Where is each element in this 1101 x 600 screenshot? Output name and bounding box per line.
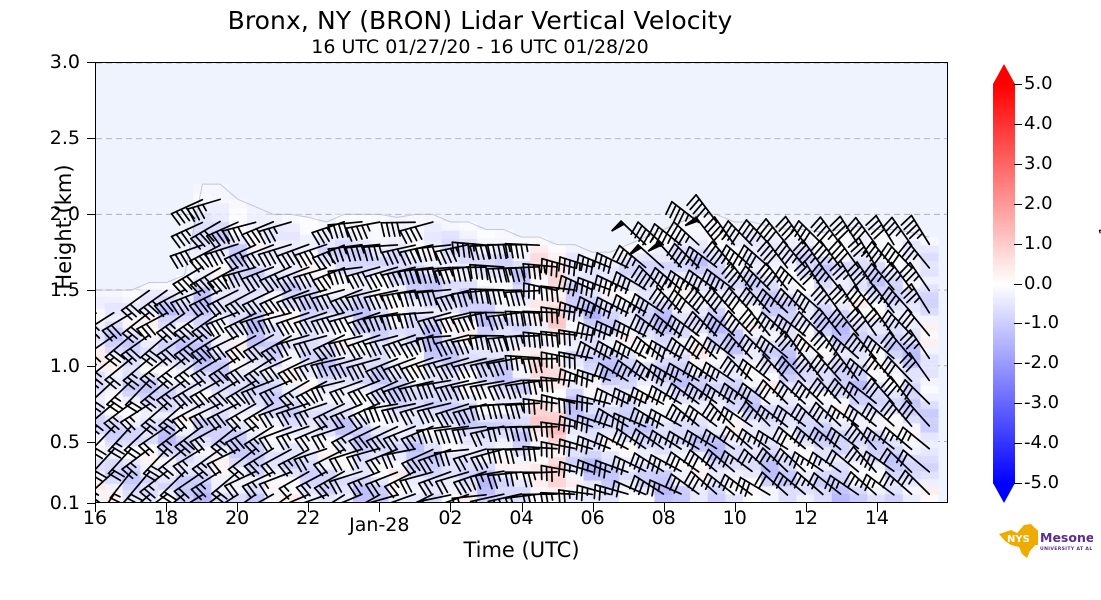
- colorbar-tick-mark: [1014, 84, 1022, 85]
- colorbar-tick-label: -2.0: [1024, 354, 1059, 372]
- colorbar-tick-label: 1.0: [1024, 235, 1053, 253]
- colorbar-tick-label: -4.0: [1024, 434, 1059, 452]
- y-tick-label: 0.1: [28, 494, 80, 513]
- colorbar-tick-mark: [1014, 443, 1022, 444]
- colorbar-tick-mark: [1014, 323, 1022, 324]
- y-tick-mark: [87, 290, 96, 291]
- colorbar-gradient: [992, 62, 1016, 505]
- x-tick-label: 16: [83, 509, 107, 528]
- colorbar-tick-mark: [1014, 124, 1022, 125]
- colorbar-tick-mark: [1014, 284, 1022, 285]
- colorbar-tick-label: -5.0: [1024, 474, 1059, 492]
- x-tick-label: 20: [225, 509, 249, 528]
- page-title: Bronx, NY (BRON) Lidar Vertical Velocity: [0, 6, 960, 36]
- y-tick-label: 1.0: [28, 357, 80, 376]
- x-tick-label: 08: [652, 509, 676, 528]
- y-tick-mark: [87, 62, 96, 63]
- logo-university-text: UNIVERSITY AT ALBANY: [1040, 546, 1093, 552]
- y-tick-mark: [87, 214, 96, 215]
- colorbar-tick-label: 2.0: [1024, 195, 1053, 213]
- colorbar-tick-label: 0.0: [1024, 275, 1053, 293]
- chart-subtitle: 16 UTC 01/27/20 - 16 UTC 01/28/20: [0, 36, 960, 59]
- x-axis-title: Time (UTC): [95, 538, 948, 562]
- x-tick-label: Jan-28: [349, 516, 409, 535]
- colorbar-tick-label: 3.0: [1024, 155, 1053, 173]
- y-tick-mark: [87, 442, 96, 443]
- y-tick-mark: [87, 138, 96, 139]
- colorbar-tick-label: -3.0: [1024, 394, 1059, 412]
- y-tick-label: 3.0: [28, 53, 80, 72]
- y-tick-mark: [87, 366, 96, 367]
- x-tick-label: 12: [794, 509, 818, 528]
- x-tick-label: 14: [865, 509, 889, 528]
- plot-canvas: [96, 63, 947, 502]
- y-tick-label: 2.0: [28, 205, 80, 224]
- logo-nys-text: NYS: [1007, 534, 1030, 545]
- x-tick-label: 18: [154, 509, 178, 528]
- colorbar-tick-mark: [1014, 164, 1022, 165]
- x-tick-label: 10: [723, 509, 747, 528]
- colorbar-tick-mark: [1014, 403, 1022, 404]
- x-tick-label: 06: [580, 509, 604, 528]
- y-tick-label: 1.5: [28, 281, 80, 300]
- chart-figure: Bronx, NY (BRON) Lidar Vertical Velocity…: [0, 0, 1101, 600]
- y-tick-label: 2.5: [28, 129, 80, 148]
- y-tick-label: 0.5: [28, 433, 80, 452]
- plot-area: [95, 62, 948, 503]
- colorbar-tick-mark: [1014, 483, 1022, 484]
- x-tick-mark: [379, 503, 380, 512]
- x-tick-label: 22: [296, 509, 320, 528]
- x-tick-label: 04: [509, 509, 533, 528]
- nys-mesonet-logo: NYSMesonetUNIVERSITY AT ALBANY: [997, 521, 1093, 561]
- colorbar-tick-mark: [1014, 363, 1022, 364]
- colorbar-tick-label: 4.0: [1024, 115, 1053, 133]
- colorbar-tick-label: 5.0: [1024, 75, 1053, 93]
- colorbar-tick-label: -1.0: [1024, 314, 1059, 332]
- colorbar: [992, 62, 1016, 505]
- colorbar-tick-mark: [1014, 204, 1022, 205]
- logo-mesonet-text: Mesonet: [1040, 530, 1093, 545]
- colorbar-tick-mark: [1014, 244, 1022, 245]
- x-tick-label: 02: [438, 509, 462, 528]
